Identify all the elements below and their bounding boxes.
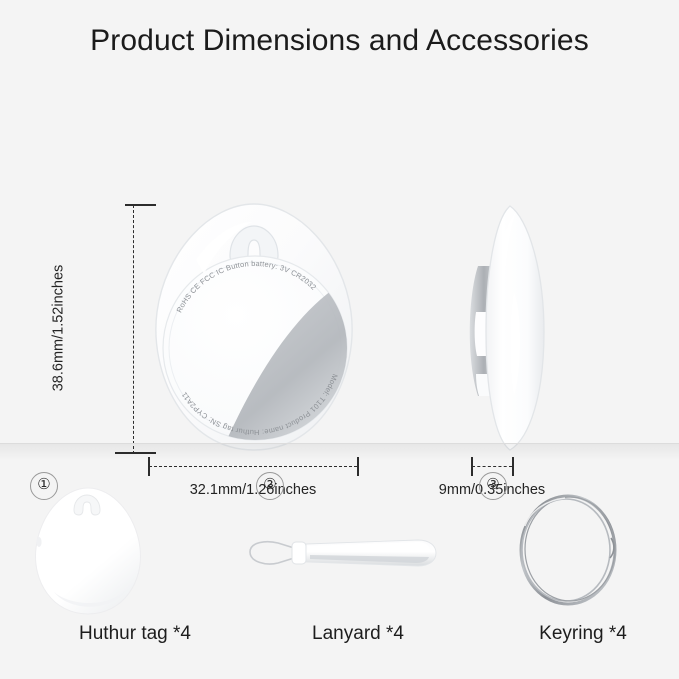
accessory-label-1: Huthur tag *4 — [8, 623, 234, 645]
tracker-tag-front-view: RoHS CE FCC IC Button battery: 3V CR2032… — [148, 200, 360, 458]
height-tick-top — [125, 204, 156, 206]
dimensions-panel: RoHS CE FCC IC Button battery: 3V CR2032… — [0, 88, 679, 443]
accessory-item-lanyard: ② — [232, 460, 458, 679]
height-dimension-label: 38.6mm/1.52inches — [50, 265, 66, 392]
height-dimension-line — [133, 205, 134, 454]
accessory-item-tag: ① Huthur tag *4 — [8, 460, 234, 679]
accessory-item-keyring: ③ — [455, 460, 679, 679]
keyring-icon — [455, 480, 679, 620]
tag-icon — [8, 480, 234, 620]
accessory-label-2: Lanyard *4 — [232, 623, 458, 645]
section-divider-shadow — [0, 444, 679, 460]
accessory-label-3: Keyring *4 — [455, 623, 679, 645]
accessories-panel: ① Huthur tag *4 — [0, 460, 679, 679]
tracker-tag-side-view — [452, 200, 564, 456]
product-infographic: Product Dimensions and Accessories — [0, 0, 679, 679]
lanyard-icon — [232, 480, 458, 620]
page-title: Product Dimensions and Accessories — [0, 24, 679, 58]
